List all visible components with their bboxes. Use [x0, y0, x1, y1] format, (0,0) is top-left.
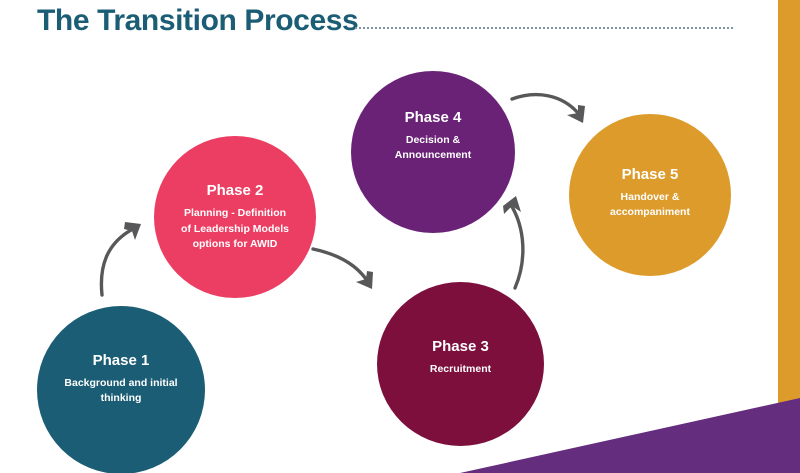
phase-1-description: Background and initial thinking — [64, 376, 177, 406]
phase-2-description: Planning - Definition of Leadership Mode… — [181, 206, 289, 252]
phase-1-desc-line-2: thinking — [64, 391, 177, 406]
arrow-phase2-to-phase3 — [313, 249, 373, 289]
phase-5-desc-line-1: Handover & — [610, 190, 690, 205]
phase-node-2[interactable]: Phase 2 Planning - Definition of Leaders… — [154, 136, 316, 298]
phase-3-description: Recruitment — [430, 362, 491, 377]
phase-3-title: Phase 3 — [432, 338, 489, 355]
phase-4-desc-line-2: Announcement — [395, 148, 471, 163]
phase-3-desc-line-1: Recruitment — [430, 362, 491, 377]
orange-edge-band — [778, 0, 800, 418]
phase-node-1[interactable]: Phase 1 Background and initial thinking — [37, 306, 205, 473]
phase-2-desc-line-3: options for AWID — [181, 237, 289, 252]
arrow-phase1-to-phase2 — [101, 222, 141, 295]
arrow-phase3-to-phase4 — [503, 196, 523, 288]
phase-4-description: Decision & Announcement — [395, 133, 471, 163]
phase-4-title: Phase 4 — [405, 109, 462, 126]
phase-1-desc-line-1: Background and initial — [64, 376, 177, 391]
slide-canvas: The Transition Process Phase 1 Backgroun… — [0, 0, 800, 473]
phase-5-title: Phase 5 — [622, 166, 679, 183]
phase-5-desc-line-2: accompaniment — [610, 205, 690, 220]
phase-2-title: Phase 2 — [207, 182, 264, 199]
phase-node-4[interactable]: Phase 4 Decision & Announcement — [351, 71, 515, 233]
phase-2-desc-line-2: of Leadership Models — [181, 222, 289, 237]
arrow-phase4-to-phase5 — [512, 95, 585, 123]
phase-node-3[interactable]: Phase 3 Recruitment — [377, 282, 544, 446]
phase-4-desc-line-1: Decision & — [395, 133, 471, 148]
phase-1-title: Phase 1 — [93, 352, 150, 369]
page-title: The Transition Process — [37, 4, 358, 38]
phase-5-description: Handover & accompaniment — [610, 190, 690, 220]
dotted-divider-icon — [355, 27, 733, 29]
phase-node-5[interactable]: Phase 5 Handover & accompaniment — [569, 114, 731, 276]
phase-2-desc-line-1: Planning - Definition — [181, 206, 289, 221]
